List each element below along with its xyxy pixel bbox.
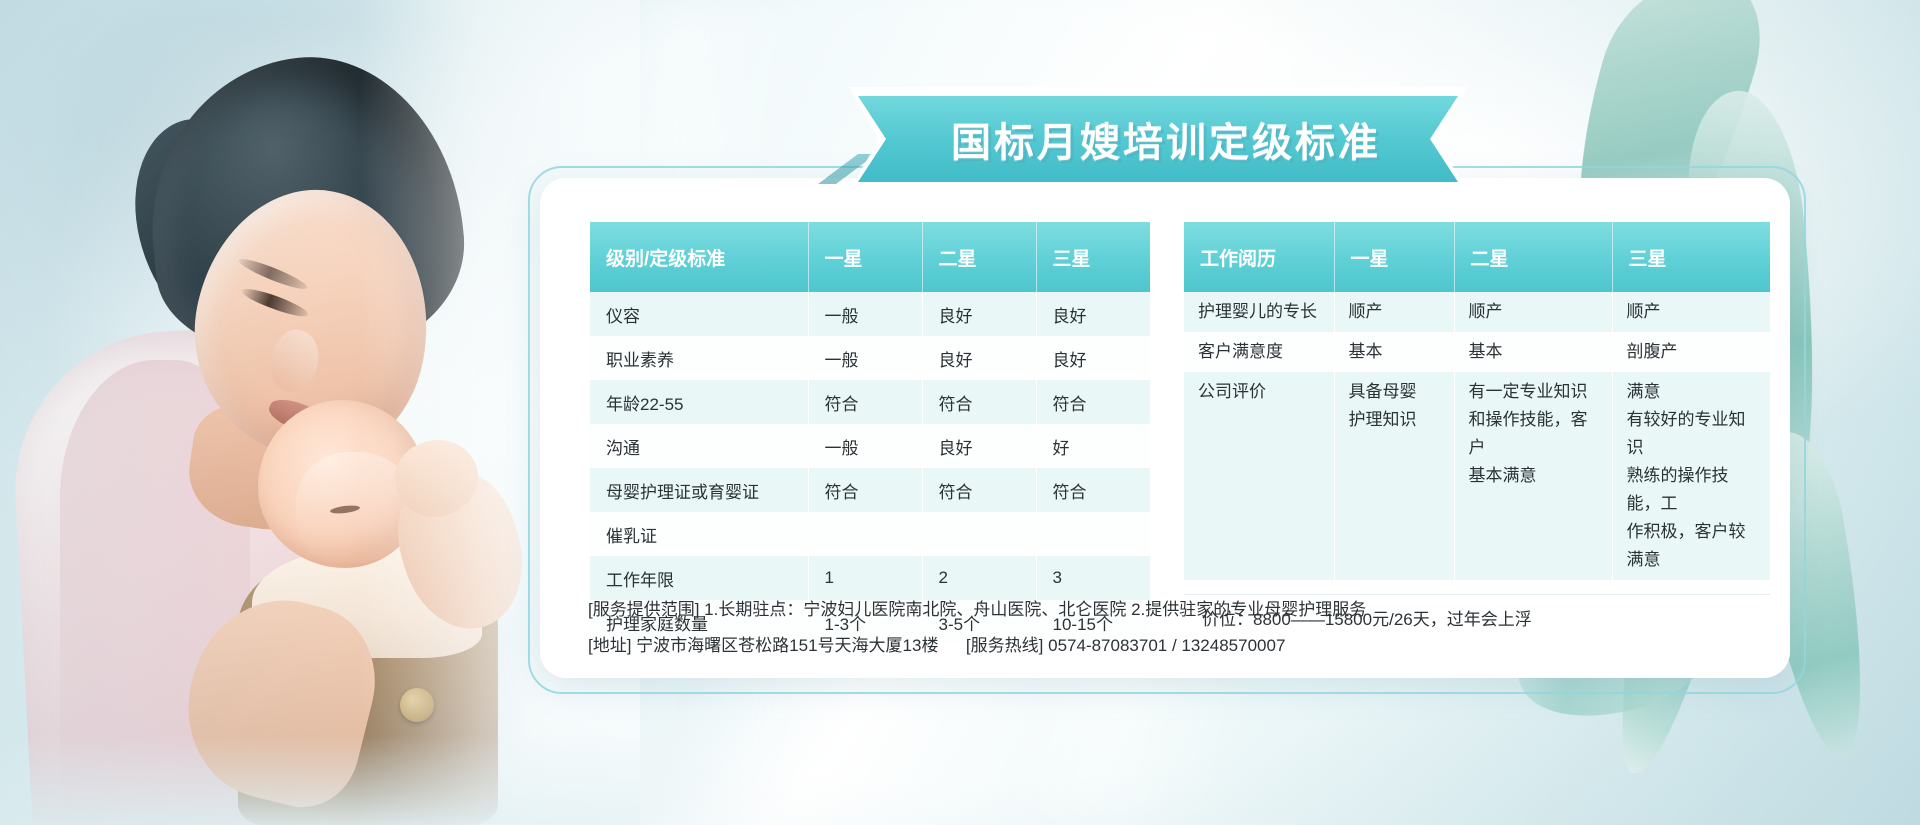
cell-experience: 护理婴儿的专长 [1184,292,1334,332]
cell-three-star: 良好 [1036,336,1150,380]
title-banner: 国标月嫂培训定级标准 [858,96,1458,182]
footer-hotline-label: [服务热线] [966,636,1043,655]
cell-one-star: 符合 [808,380,922,424]
cell-two-star: 良好 [922,336,1036,380]
work-experience-body: 护理婴儿的专长顺产顺产顺产客户满意度基本基本剖腹产公司评价具备母婴护理知识有一定… [1184,292,1770,580]
grading-standard-table: 级别/定级标准 一星 二星 三星 仪容一般良好良好职业素养一般良好良好年龄22-… [590,222,1150,644]
cell-one-star [808,512,922,556]
cell-two-star: 符合 [922,468,1036,512]
cell-criteria: 母婴护理证或育婴证 [590,468,808,512]
cell-three-star: 良好 [1036,292,1150,336]
cell-three-star: 符合 [1036,468,1150,512]
table-row: 仪容一般良好良好 [590,292,1150,336]
cell-three-star: 符合 [1036,380,1150,424]
cell-three-star: 剖腹产 [1612,332,1770,372]
cell-two-star: 良好 [922,424,1036,468]
work-experience-panel: 工作阅历 一星 二星 三星 护理婴儿的专长顺产顺产顺产客户满意度基本基本剖腹产公… [1184,222,1770,572]
footer-address-line: [地址] 宁波市海曙区苍松路151号天海大厦13楼 [服务热线] 0574-87… [588,628,1788,664]
col-header-three-star: 三星 [1036,222,1150,292]
cell-experience: 公司评价 [1184,372,1334,580]
footer-service-scope: [服务提供范围] 1.长期驻点：宁波妇儿医院南北院、舟山医院、北仑医院 2.提供… [588,592,1788,628]
cell-criteria: 仪容 [590,292,808,336]
cell-one-star: 基本 [1334,332,1454,372]
banner-body: 国标月嫂培训定级标准 [858,96,1458,182]
cell-two-star: 符合 [922,380,1036,424]
tables-row: 级别/定级标准 一星 二星 三星 仪容一般良好良好职业素养一般良好良好年龄22-… [590,222,1770,572]
cell-one-star: 顺产 [1334,292,1454,332]
cell-two-star: 基本 [1454,332,1612,372]
cell-criteria: 催乳证 [590,512,808,556]
table-row: 公司评价具备母婴护理知识有一定专业知识和操作技能，客户基本满意满意有较好的专业知… [1184,372,1770,580]
table-row: 催乳证 [590,512,1150,556]
table-header-row: 工作阅历 一星 二星 三星 [1184,222,1770,292]
table-row: 沟通一般良好好 [590,424,1150,468]
footer-address: [地址] 宁波市海曙区苍松路151号天海大厦13楼 [588,636,938,655]
table-row: 职业素养一般良好良好 [590,336,1150,380]
footer-info: [服务提供范围] 1.长期驻点：宁波妇儿医院南北院、舟山医院、北仑医院 2.提供… [588,592,1788,663]
cell-experience: 客户满意度 [1184,332,1334,372]
col-header-two-star: 二星 [922,222,1036,292]
cell-two-star [922,512,1036,556]
cell-three-star: 满意有较好的专业知识熟练的操作技能，工作积极，客户较满意 [1612,372,1770,580]
col-header-criteria: 级别/定级标准 [590,222,808,292]
col-header-one-star: 一星 [808,222,922,292]
cell-criteria: 沟通 [590,424,808,468]
cell-one-star: 具备母婴护理知识 [1334,372,1454,580]
cell-one-star: 一般 [808,336,922,380]
cell-one-star: 一般 [808,424,922,468]
col-header-three-star: 三星 [1612,222,1770,292]
table-header-row: 级别/定级标准 一星 二星 三星 [590,222,1150,292]
cell-two-star: 有一定专业知识和操作技能，客户基本满意 [1454,372,1612,580]
cell-one-star: 一般 [808,292,922,336]
cell-criteria: 职业素养 [590,336,808,380]
col-header-one-star: 一星 [1334,222,1454,292]
cell-three-star [1036,512,1150,556]
poster-stage: 国标月嫂培训定级标准 级别/定级标准 一星 二星 三星 仪容一般良好良好职业素养… [0,0,1920,825]
table-row: 客户满意度基本基本剖腹产 [1184,332,1770,372]
col-header-experience: 工作阅历 [1184,222,1334,292]
cell-one-star: 符合 [808,468,922,512]
table-row: 年龄22-55符合符合符合 [590,380,1150,424]
cell-three-star: 顺产 [1612,292,1770,332]
cell-criteria: 年龄22-55 [590,380,808,424]
footer-hotline-value: 0574-87083701 / 13248570007 [1048,636,1285,655]
banner-title-text: 国标月嫂培训定级标准 [951,110,1381,168]
cell-three-star: 好 [1036,424,1150,468]
table-row: 母婴护理证或育婴证符合符合符合 [590,468,1150,512]
cell-two-star: 良好 [922,292,1036,336]
col-header-two-star: 二星 [1454,222,1612,292]
table-row: 护理婴儿的专长顺产顺产顺产 [1184,292,1770,332]
cell-two-star: 顺产 [1454,292,1612,332]
work-experience-table: 工作阅历 一星 二星 三星 护理婴儿的专长顺产顺产顺产客户满意度基本基本剖腹产公… [1184,222,1770,580]
